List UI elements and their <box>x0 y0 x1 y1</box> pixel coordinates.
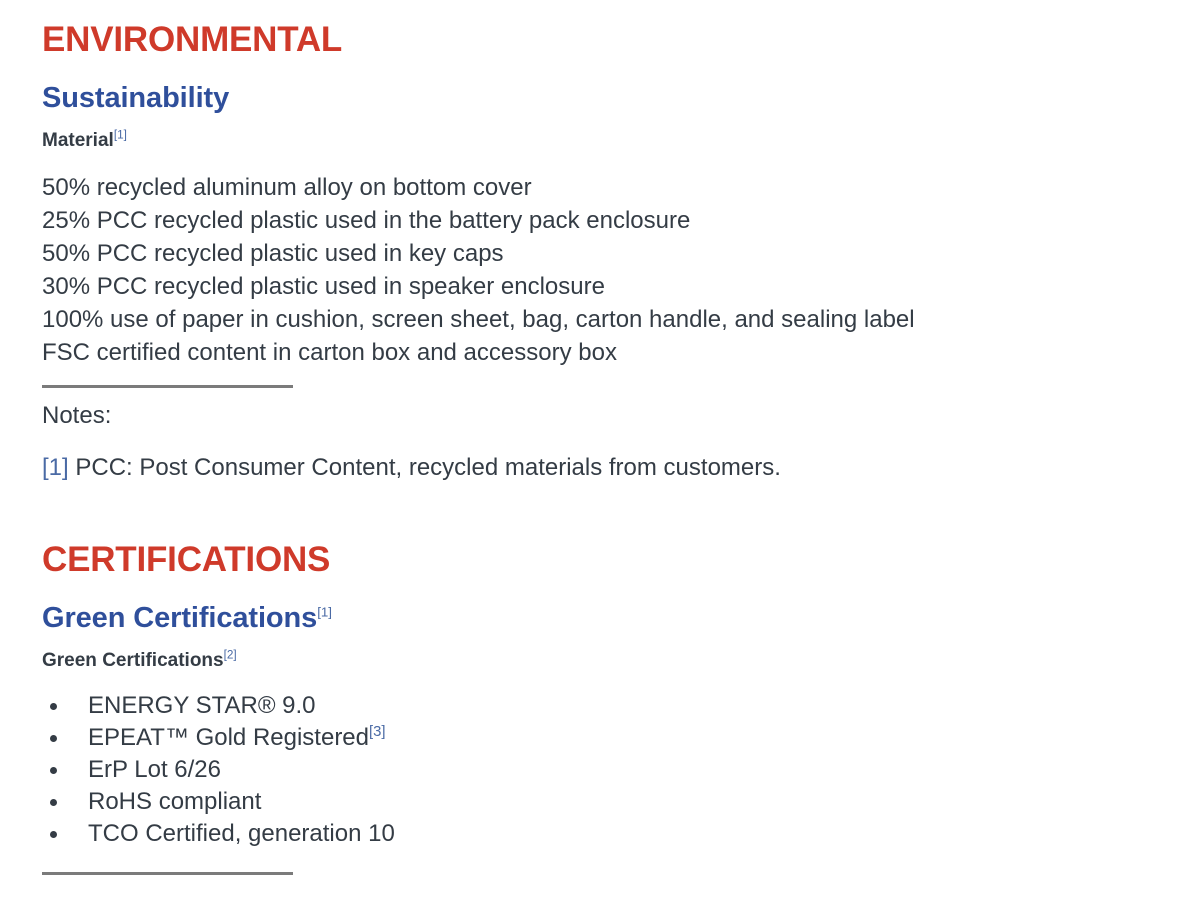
spacer <box>42 150 1185 171</box>
section-heading-certifications: CERTIFICATIONS <box>42 542 1185 577</box>
group-label-green-certifications-text: Green Certifications <box>42 650 224 671</box>
bullet-icon <box>50 767 57 774</box>
list-item-label: EPEAT™ Gold Registered <box>88 724 369 751</box>
certifications-divider-bottom <box>42 872 293 875</box>
material-line: 25% PCC recycled plastic used in the bat… <box>42 204 1185 237</box>
bullet-icon <box>50 799 57 806</box>
list-item-label: TCO Certified, generation 10 <box>88 820 395 847</box>
material-line: 100% use of paper in cushion, screen she… <box>42 303 1185 336</box>
subsection-heading-green-certifications: Green Certifications[1] <box>42 604 1185 633</box>
material-line: 30% PCC recycled plastic used in speaker… <box>42 270 1185 303</box>
group-label-material: Material[1] <box>42 131 1185 150</box>
spacer <box>42 633 1185 651</box>
note-item-text: PCC: Post Consumer Content, recycled mat… <box>75 454 781 481</box>
group-label-green-certifications: Green Certifications[2] <box>42 651 1185 670</box>
note-item: [1] PCC: Post Consumer Content, recycled… <box>42 456 1185 480</box>
list-item-label: ErP Lot 6/26 <box>88 756 221 783</box>
green-certifications-list: ENERGY STAR® 9.0EPEAT™ Gold Registered[3… <box>42 690 1185 850</box>
spacer <box>42 388 1185 404</box>
spacer <box>42 369 1185 385</box>
list-item-label: RoHS compliant <box>88 788 261 815</box>
spacer <box>42 57 1185 84</box>
list-item: RoHS compliant <box>42 786 1185 818</box>
bullet-icon <box>50 735 57 742</box>
footnote-ref-material[interactable]: [1] <box>114 129 127 142</box>
subsection-heading-sustainability: Sustainability <box>42 84 1185 113</box>
list-item: ENERGY STAR® 9.0 <box>42 690 1185 722</box>
spacer <box>42 670 1185 690</box>
spacer <box>42 850 1185 872</box>
spacer <box>42 113 1185 131</box>
section-heading-environmental: ENVIRONMENTAL <box>42 0 1185 57</box>
material-line: 50% recycled aluminum alloy on bottom co… <box>42 171 1185 204</box>
spacer <box>42 577 1185 604</box>
list-item-label: ENERGY STAR® 9.0 <box>88 692 316 719</box>
footnote-ref-list-item[interactable]: [3] <box>369 724 386 740</box>
spec-sheet-page: ENVIRONMENTAL Sustainability Material[1]… <box>0 0 1185 916</box>
spacer <box>42 480 1185 542</box>
spacer <box>42 428 1185 456</box>
footnote-ref-green-group[interactable]: [2] <box>224 649 237 662</box>
footnote-ref-green-heading[interactable]: [1] <box>317 604 332 619</box>
material-line: FSC certified content in carton box and … <box>42 336 1185 369</box>
list-item: TCO Certified, generation 10 <box>42 818 1185 850</box>
bullet-icon <box>50 703 57 710</box>
notes-label: Notes: <box>42 404 1185 428</box>
material-lines-list: 50% recycled aluminum alloy on bottom co… <box>42 171 1185 369</box>
group-label-material-text: Material <box>42 130 114 151</box>
subsection-heading-green-certifications-text: Green Certifications <box>42 602 317 634</box>
list-item: ErP Lot 6/26 <box>42 754 1185 786</box>
footnote-marker-1[interactable]: [1] <box>42 454 69 481</box>
bullet-icon <box>50 831 57 838</box>
list-item: EPEAT™ Gold Registered[3] <box>42 722 1185 754</box>
material-line: 50% PCC recycled plastic used in key cap… <box>42 237 1185 270</box>
